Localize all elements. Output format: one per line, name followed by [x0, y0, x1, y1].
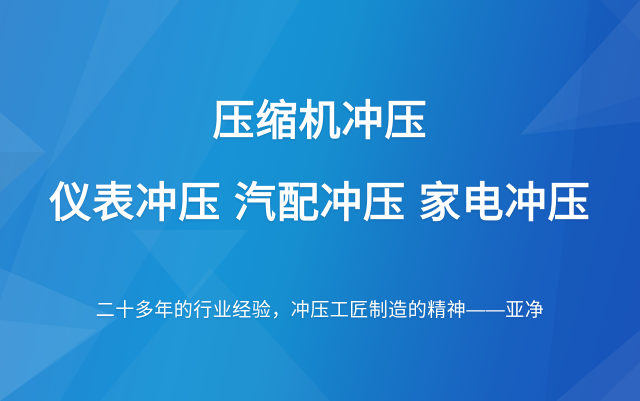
- banner-content: 压缩机冲压 仪表冲压 汽配冲压 家电冲压 二十多年的行业经验，冲压工匠制造的精神…: [0, 0, 640, 401]
- headline-primary: 压缩机冲压: [212, 96, 427, 146]
- headline-secondary: 仪表冲压 汽配冲压 家电冲压: [49, 178, 590, 228]
- promo-banner: 压缩机冲压 仪表冲压 汽配冲压 家电冲压 二十多年的行业经验，冲压工匠制造的精神…: [0, 0, 640, 401]
- banner-tagline: 二十多年的行业经验，冲压工匠制造的精神——亚净: [96, 298, 545, 324]
